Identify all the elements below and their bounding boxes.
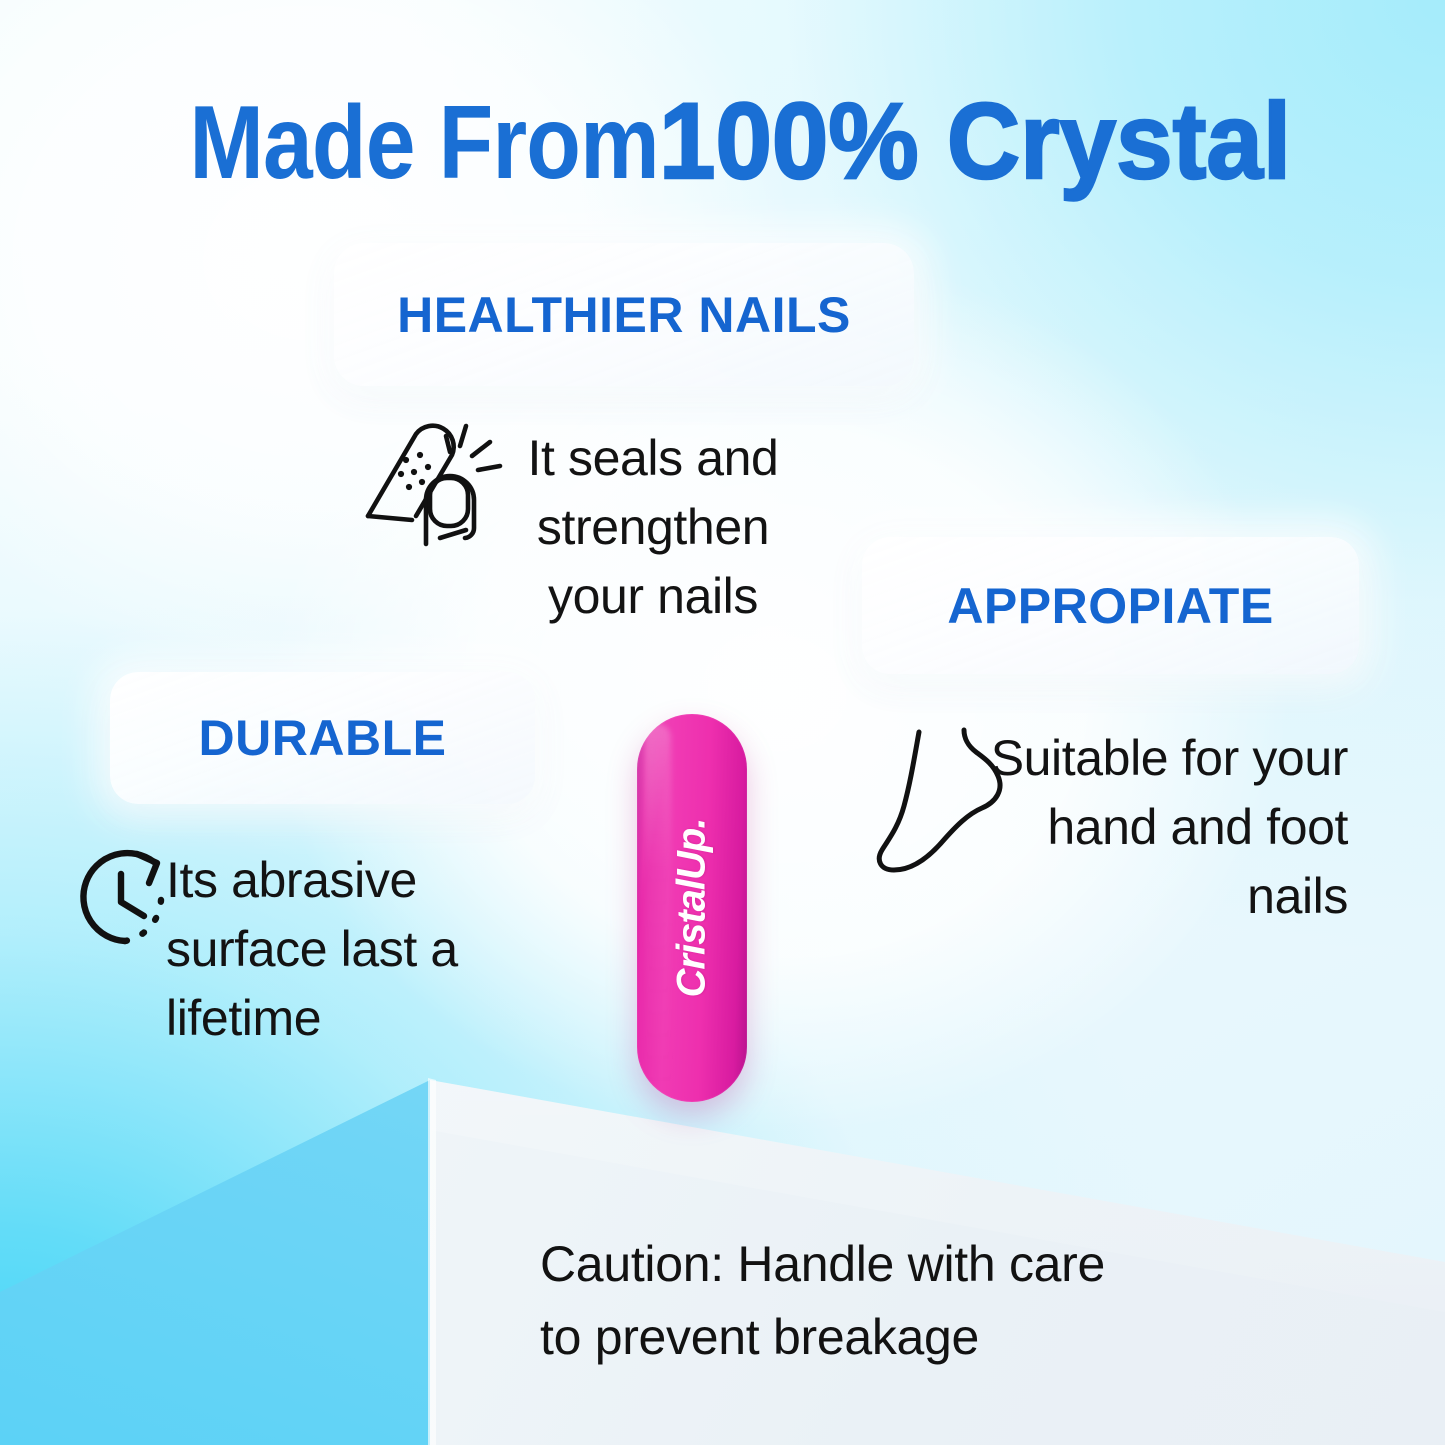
badge-durable: DURABLE: [110, 672, 535, 804]
page-title: Made From 100% Crystal: [0, 78, 1445, 203]
badge-durable-label: DURABLE: [199, 709, 447, 767]
badge-appropiate: APPROPIATE: [862, 537, 1359, 674]
product-brand-label: CristalUp.: [670, 819, 715, 998]
page-title-light: Made From: [190, 84, 659, 203]
feature-text-seals: It seals and strengthen your nails: [498, 424, 808, 631]
feature-text-abrasive: Its abrasive surface last a lifetime: [166, 846, 486, 1053]
badge-healthier-nails: HEALTHIER NAILS: [334, 243, 914, 386]
feature-text-suitable: Suitable for your hand and foot nails: [968, 724, 1348, 931]
caution-note: Caution: Handle with care to prevent bre…: [540, 1228, 1260, 1374]
badge-appropiate-label: APPROPIATE: [947, 577, 1273, 635]
clock-arrow-icon: [62, 838, 180, 956]
infographic-canvas: Made From 100% Crystal HEALTHIER NAILS A…: [0, 0, 1445, 1445]
product-sheen: [645, 724, 671, 1092]
product-nail-file: CristalUp.: [637, 714, 747, 1102]
caution-line-2: to prevent breakage: [540, 1301, 1260, 1374]
page-title-bold: 100% Crystal: [659, 78, 1291, 203]
nail-file-and-finger-icon: [354, 412, 514, 552]
caution-line-1: Caution: Handle with care: [540, 1228, 1260, 1301]
badge-healthier-nails-label: HEALTHIER NAILS: [397, 286, 851, 344]
